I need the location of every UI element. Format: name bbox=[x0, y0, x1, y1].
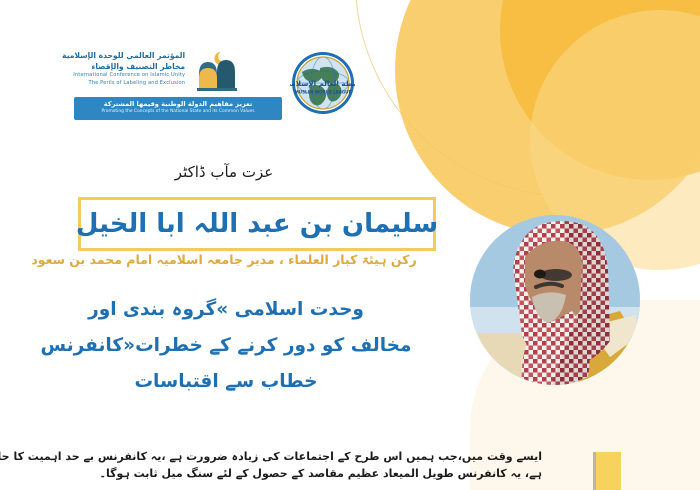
mwl-arabic-text: رابطة العالم الإسلامي bbox=[290, 79, 356, 88]
title-block: وحدت اسلامی »گروہ بندی اور مخالف کو دور … bbox=[0, 292, 452, 400]
speaker-honorific: عزت مآب ڈاکٹر bbox=[0, 163, 448, 181]
quote-line-1: ایسے وقت میں،جب ہمیں اس طرح کے اجتماعات … bbox=[72, 448, 542, 465]
title-line-1: وحدت اسلامی »گروہ بندی اور bbox=[0, 292, 452, 328]
speaker-name-box: سلیمان بن عبد اللہ ابا الخیل bbox=[78, 197, 436, 251]
quote-line-2: ہے، یہ کانفرنس طویل المیعاد عظیم مقاصد ک… bbox=[72, 465, 542, 482]
conference-logo: المؤتمر العالمي للوحدة الإسلامية مخاطر ا… bbox=[62, 48, 292, 122]
mwl-english-text: MUSLIM WORLD LEAGUE bbox=[295, 90, 352, 95]
speaker-name: سلیمان بن عبد اللہ ابا الخیل bbox=[76, 211, 438, 237]
conference-arabic-line1: المؤتمر العالمي للوحدة الإسلامية bbox=[62, 50, 185, 61]
conference-english-line1: International Conference on Islamic Unit… bbox=[62, 72, 185, 80]
mwl-globe-icon: رابطة العالم الإسلامي MUSLIM WORLD LEAGU… bbox=[290, 50, 356, 116]
title-line-2: مخالف کو دور کرنے کے خطرات«کانفرنس bbox=[0, 328, 452, 364]
banner-english-text: Promoting the Concepts of the National S… bbox=[79, 109, 277, 116]
quote-text: ایسے وقت میں،جب ہمیں اس طرح کے اجتماعات … bbox=[72, 448, 542, 482]
speaker-portrait bbox=[470, 215, 640, 385]
logo-row: المؤتمر العالمي للوحدة الإسلامية مخاطر ا… bbox=[62, 48, 302, 122]
poster-canvas: المؤتمر العالمي للوحدة الإسلامية مخاطر ا… bbox=[0, 0, 700, 490]
conference-arabic-line2: مخاطر التصنيف والإقصاء bbox=[62, 61, 185, 72]
mosque-dome-icon bbox=[191, 48, 243, 92]
speaker-designation: رکن ہیئۃ کبار العلماء ، مدیر جامعہ اسلام… bbox=[0, 252, 448, 267]
conference-logo-text: المؤتمر العالمي للوحدة الإسلامية مخاطر ا… bbox=[62, 48, 185, 87]
conference-english-line2: The Perils of Labeling and Exclusion bbox=[62, 80, 185, 88]
conference-banner: تعزيز مفاهيم الدولة الوطنية وقيمها المشت… bbox=[74, 97, 282, 120]
accent-bar bbox=[596, 452, 621, 490]
banner-arabic-text: تعزيز مفاهيم الدولة الوطنية وقيمها المشت… bbox=[79, 100, 277, 109]
title-line-3: خطاب سے اقتباسات bbox=[0, 364, 452, 400]
